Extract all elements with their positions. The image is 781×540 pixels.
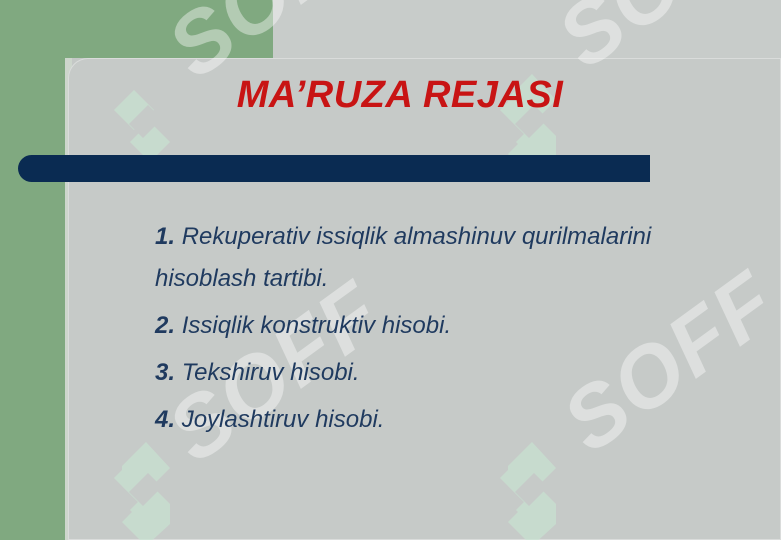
list-item-number: 2. [155,312,175,339]
presentation-slide: SOFF SOFF SOFF SOFF [0,0,781,540]
list-item-number: 1. [155,223,175,250]
slide-title: MA’RUZA REJASI [100,74,700,117]
list-item-text: Joylashtiruv hisobi. [182,406,385,433]
list-item: 3. Tekshiruv hisobi. [155,352,747,394]
list-item: 4. Joylashtiruv hisobi. [155,399,747,441]
list-item-text: Rekuperativ issiqlik almashinuv qurilmal… [155,223,651,292]
green-accent-panel-left [0,58,65,540]
title-underline-bar [18,155,650,182]
green-accent-panel-top [0,0,273,58]
list-item: 1. Rekuperativ issiqlik almashinuv quril… [155,216,740,300]
list-item-text: Issiqlik konstruktiv hisobi. [182,312,451,339]
list-item-text: Tekshiruv hisobi. [182,359,360,386]
gray-strip-top [273,0,781,58]
list-item-number: 4. [155,406,175,433]
list-item: 2. Issiqlik konstruktiv hisobi. [155,305,747,347]
list-item-number: 3. [155,359,175,386]
agenda-list: 1. Rekuperativ issiqlik almashinuv quril… [155,216,747,446]
